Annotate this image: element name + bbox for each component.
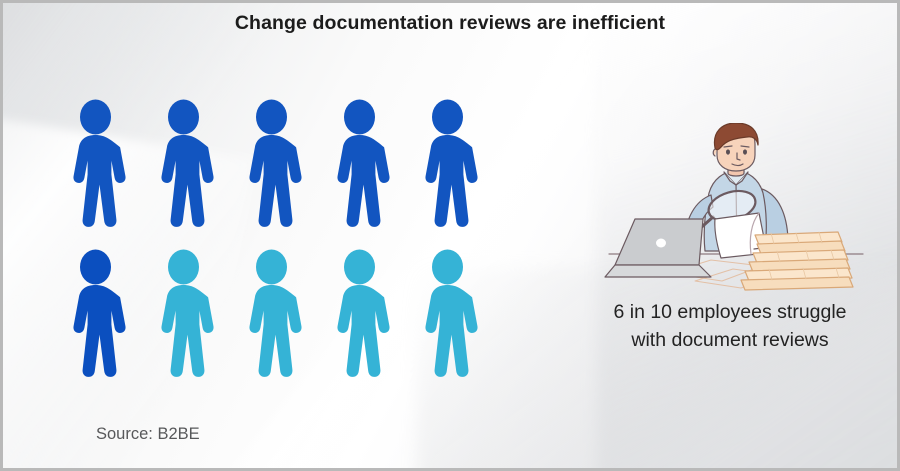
person-icon-1-2 <box>151 99 216 227</box>
source-label: Source: B2BE <box>96 425 200 444</box>
caption-line-1: 6 in 10 employees struggle <box>575 299 885 327</box>
person-icon-2-5 <box>415 249 480 377</box>
laptop-logo <box>656 239 666 248</box>
page-title: Change documentation reviews are ineffic… <box>3 12 897 35</box>
person-icon-1-5 <box>415 99 480 227</box>
person-icon-2-3 <box>239 249 304 377</box>
person-icon-1-1 <box>63 99 128 227</box>
pictogram-chart <box>63 99 480 377</box>
person-icon-1-4 <box>327 99 392 227</box>
person-icon-2-2 <box>151 249 216 377</box>
eye-right <box>743 149 747 154</box>
paper-stack <box>741 232 853 290</box>
laptop-base <box>605 265 711 277</box>
illustration-caption: 6 in 10 employees struggle with document… <box>575 299 885 354</box>
laptop <box>605 219 711 277</box>
person-icon-2-1 <box>63 249 128 377</box>
pictogram-row-2 <box>63 249 480 377</box>
person-icon-1-3 <box>239 99 304 227</box>
illustration-svg <box>591 123 881 298</box>
pictogram-row-1 <box>63 99 480 227</box>
illustration-document-review <box>591 123 881 298</box>
caption-line-2: with document reviews <box>575 327 885 355</box>
eye-left <box>726 149 730 154</box>
person-icon-2-4 <box>327 249 392 377</box>
infographic-canvas: Change documentation reviews are ineffic… <box>0 0 900 471</box>
